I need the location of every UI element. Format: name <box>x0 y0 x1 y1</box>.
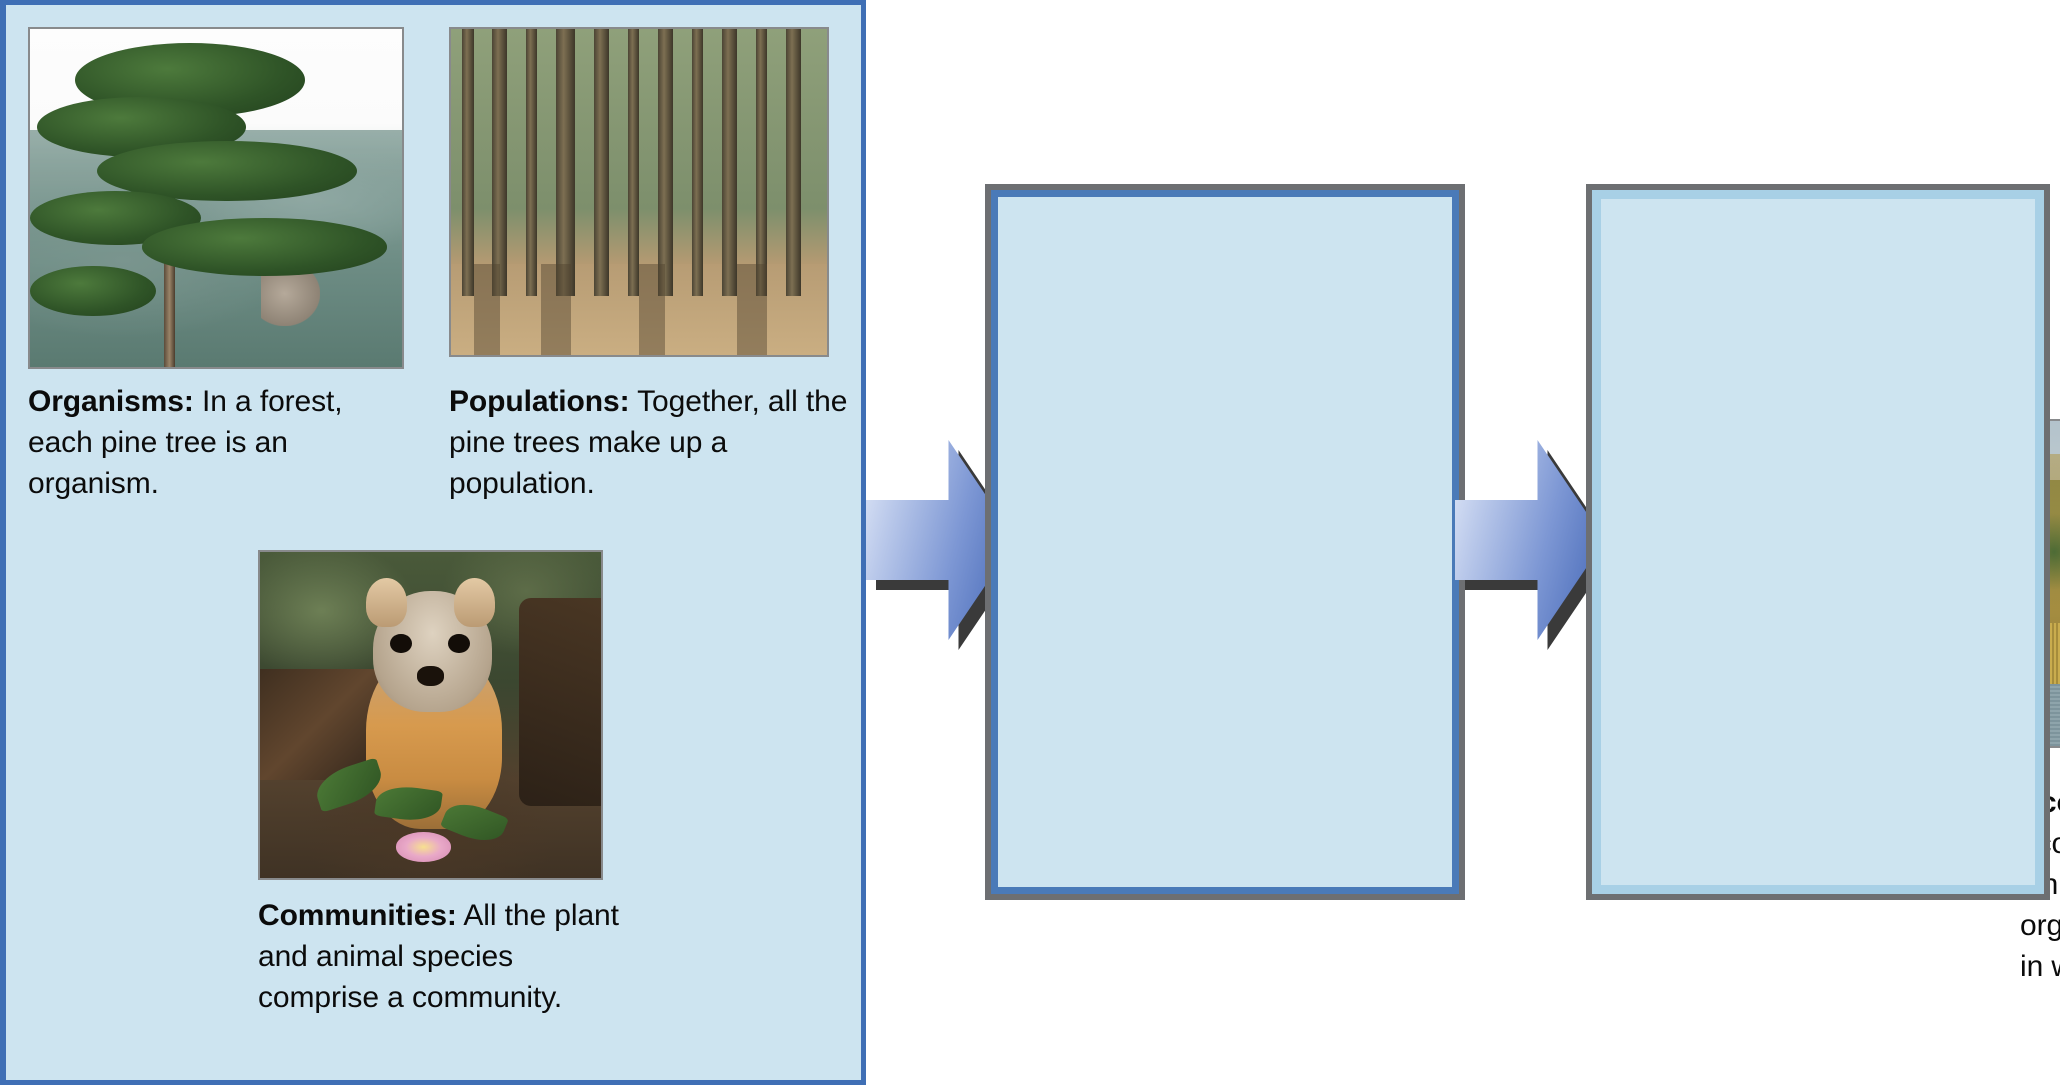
pine-branch <box>30 266 156 317</box>
tree-trunk <box>756 29 767 296</box>
pine-tree-photo <box>28 27 404 369</box>
pink-flower <box>396 832 451 861</box>
caption-communities: Communities: All the plant and animal sp… <box>258 895 638 1018</box>
tree-trunk <box>594 29 609 296</box>
tree-trunk <box>628 29 639 296</box>
tree-trunk <box>692 29 703 296</box>
caption-populations-term: Populations: <box>449 385 629 418</box>
marten-nose <box>417 666 444 686</box>
diagram-canvas: Organisms: In a forest, each pine tree i… <box>0 0 2060 1085</box>
panel-ecosystems: Ecosystems: This coastal ecosystem in th… <box>991 190 1459 894</box>
caption-organisms: Organisms: In a forest, each pine tree i… <box>28 381 378 504</box>
pine-forest-photo <box>449 27 829 357</box>
marten-photo <box>258 550 603 880</box>
tree-trunk <box>526 29 537 296</box>
marten-ear <box>454 578 495 627</box>
trunk-shadow <box>639 264 665 355</box>
caption-populations: Populations: Together, all the pine tree… <box>449 381 849 504</box>
trunk-shadow <box>474 264 500 355</box>
caption-communities-term: Communities: <box>258 899 457 932</box>
panel-organisms-populations-communities: Organisms: In a forest, each pine tree i… <box>0 0 866 1085</box>
marten-eye <box>448 634 470 654</box>
pine-branch <box>142 218 388 275</box>
tree-trunk <box>556 29 575 296</box>
trunk-shadow <box>737 264 767 355</box>
tree-trunk <box>658 29 673 296</box>
tree-trunk <box>786 29 801 296</box>
tree-trunk <box>462 29 473 296</box>
right-arrow-icon <box>1455 440 1605 640</box>
caption-organisms-term: Organisms: <box>28 385 194 418</box>
tree-trunk <box>492 29 507 296</box>
rock-outcrop <box>261 272 321 326</box>
marten-ear <box>366 578 407 627</box>
fallen-log <box>519 598 603 807</box>
trunk-shadow <box>541 264 571 355</box>
marten-eye <box>390 634 412 654</box>
arrow-body <box>1455 440 1605 640</box>
panel-biosphere: The Biosphere: Encompasses all the ecosy… <box>1592 190 2044 894</box>
tree-trunk <box>722 29 737 296</box>
